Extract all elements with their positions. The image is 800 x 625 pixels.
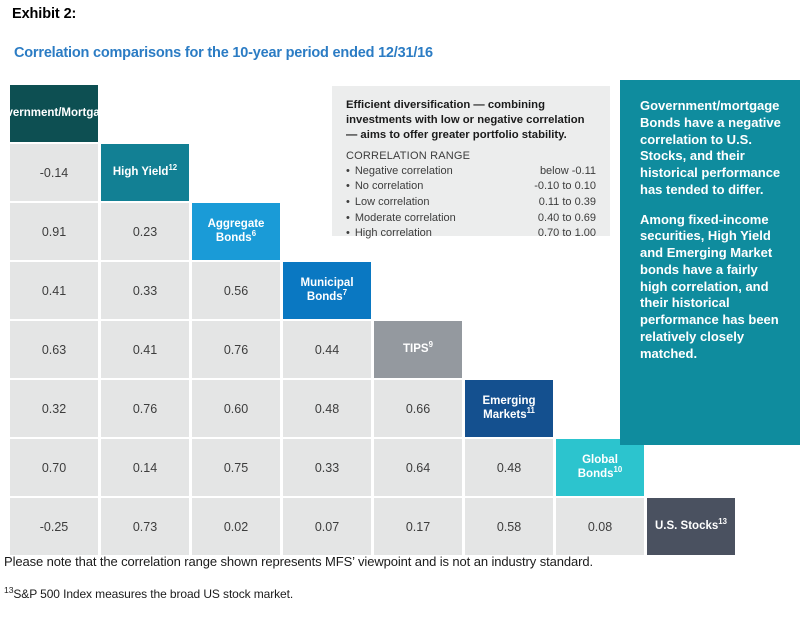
asset-class-header: U.S. Stocks13 [647,498,735,555]
asset-class-footnote-marker: 9 [429,340,433,349]
footnote-13: 13S&P 500 Index measures the broad US st… [4,587,293,601]
correlation-cell: 0.64 [374,439,462,496]
legend-item: Negative correlationbelow -0.11 [346,164,596,180]
commentary-paragraph: Among fixed-income securities, High Yiel… [640,212,784,363]
correlation-cell: 0.76 [192,321,280,378]
legend-item-range: below -0.11 [540,164,596,180]
legend-item-label: No correlation [346,179,423,195]
legend-item: Low correlation0.11 to 0.39 [346,195,596,211]
commentary-sidebar: Government/mortgage Bonds have a negativ… [620,80,800,445]
asset-class-label: Emerging Markets11 [470,395,548,422]
legend-lede: Efficient diversification — combining in… [346,98,596,143]
correlation-cell: 0.66 [374,380,462,437]
legend-item-label: Moderate correlation [346,211,456,227]
asset-class-footnote-marker: 12 [168,163,177,172]
correlation-cell: 0.58 [465,498,553,555]
asset-class-footnote-marker: 5 [113,104,117,113]
correlation-cell: 0.32 [10,380,98,437]
legend-item-range: -0.10 to 0.10 [534,179,596,195]
correlation-cell: 0.44 [283,321,371,378]
asset-class-footnote-marker: 13 [718,517,727,526]
legend-range-title: CORRELATION RANGE [346,150,596,162]
commentary-paragraph: Government/mortgage Bonds have a negativ… [640,98,784,199]
correlation-cell: -0.14 [10,144,98,201]
legend-item-range: 0.11 to 0.39 [539,195,596,211]
correlation-cell: 0.56 [192,262,280,319]
asset-class-label: U.S. Stocks13 [655,520,727,534]
asset-class-label: Global Bonds10 [561,454,639,481]
asset-class-header: High Yield12 [101,144,189,201]
correlation-cell: 0.63 [10,321,98,378]
chart-title: Correlation comparisons for the 10-year … [14,45,433,61]
asset-class-label: Municipal Bonds7 [288,277,366,304]
asset-class-footnote-marker: 7 [343,288,347,297]
footnote-marker: 13 [4,585,13,595]
asset-class-footnote-marker: 10 [614,465,623,474]
disclaimer-note: Please note that the correlation range s… [4,554,593,569]
correlation-cell: 0.41 [101,321,189,378]
correlation-cell: 0.48 [465,439,553,496]
legend-item: High correlation0.70 to 1.00 [346,226,596,242]
asset-class-label: High Yield12 [113,166,177,180]
correlation-cell: 0.02 [192,498,280,555]
exhibit-label: Exhibit 2: [12,6,76,22]
legend-item-range: 0.70 to 1.00 [538,226,596,242]
asset-class-footnote-marker: 6 [252,229,256,238]
asset-class-label: TIPS9 [403,343,433,357]
asset-class-header: Global Bonds10 [556,439,644,496]
legend-box: Efficient diversification — combining in… [332,86,610,236]
asset-class-header: Aggregate Bonds6 [192,203,280,260]
asset-class-header: Municipal Bonds7 [283,262,371,319]
correlation-cell: 0.23 [101,203,189,260]
legend-item: No correlation-0.10 to 0.10 [346,179,596,195]
correlation-cell: 0.75 [192,439,280,496]
asset-class-header: TIPS9 [374,321,462,378]
correlation-cell: 0.73 [101,498,189,555]
asset-class-footnote-marker: 11 [527,406,535,415]
correlation-cell: 0.14 [101,439,189,496]
legend-item-label: High correlation [346,226,432,242]
correlation-cell: 0.17 [374,498,462,555]
correlation-cell: 0.08 [556,498,644,555]
asset-class-label: Government/Mortgage5 [0,107,118,121]
correlation-cell: -0.25 [10,498,98,555]
correlation-cell: 0.33 [101,262,189,319]
correlation-cell: 0.41 [10,262,98,319]
correlation-cell: 0.60 [192,380,280,437]
asset-class-header: Government/Mortgage5 [10,85,98,142]
asset-class-header: Emerging Markets11 [465,380,553,437]
correlation-cell: 0.07 [283,498,371,555]
correlation-cell: 0.33 [283,439,371,496]
legend-item-label: Low correlation [346,195,429,211]
legend-item-range: 0.40 to 0.69 [538,211,596,227]
correlation-cell: 0.48 [283,380,371,437]
correlation-cell: 0.70 [10,439,98,496]
legend-list: Negative correlationbelow -0.11No correl… [346,164,596,242]
legend-item: Moderate correlation0.40 to 0.69 [346,211,596,227]
footnote-text: S&P 500 Index measures the broad US stoc… [13,587,293,601]
exhibit-container: Exhibit 2: Correlation comparisons for t… [0,0,800,625]
correlation-cell: 0.91 [10,203,98,260]
correlation-cell: 0.76 [101,380,189,437]
asset-class-label: Aggregate Bonds6 [197,218,275,245]
legend-item-label: Negative correlation [346,164,453,180]
